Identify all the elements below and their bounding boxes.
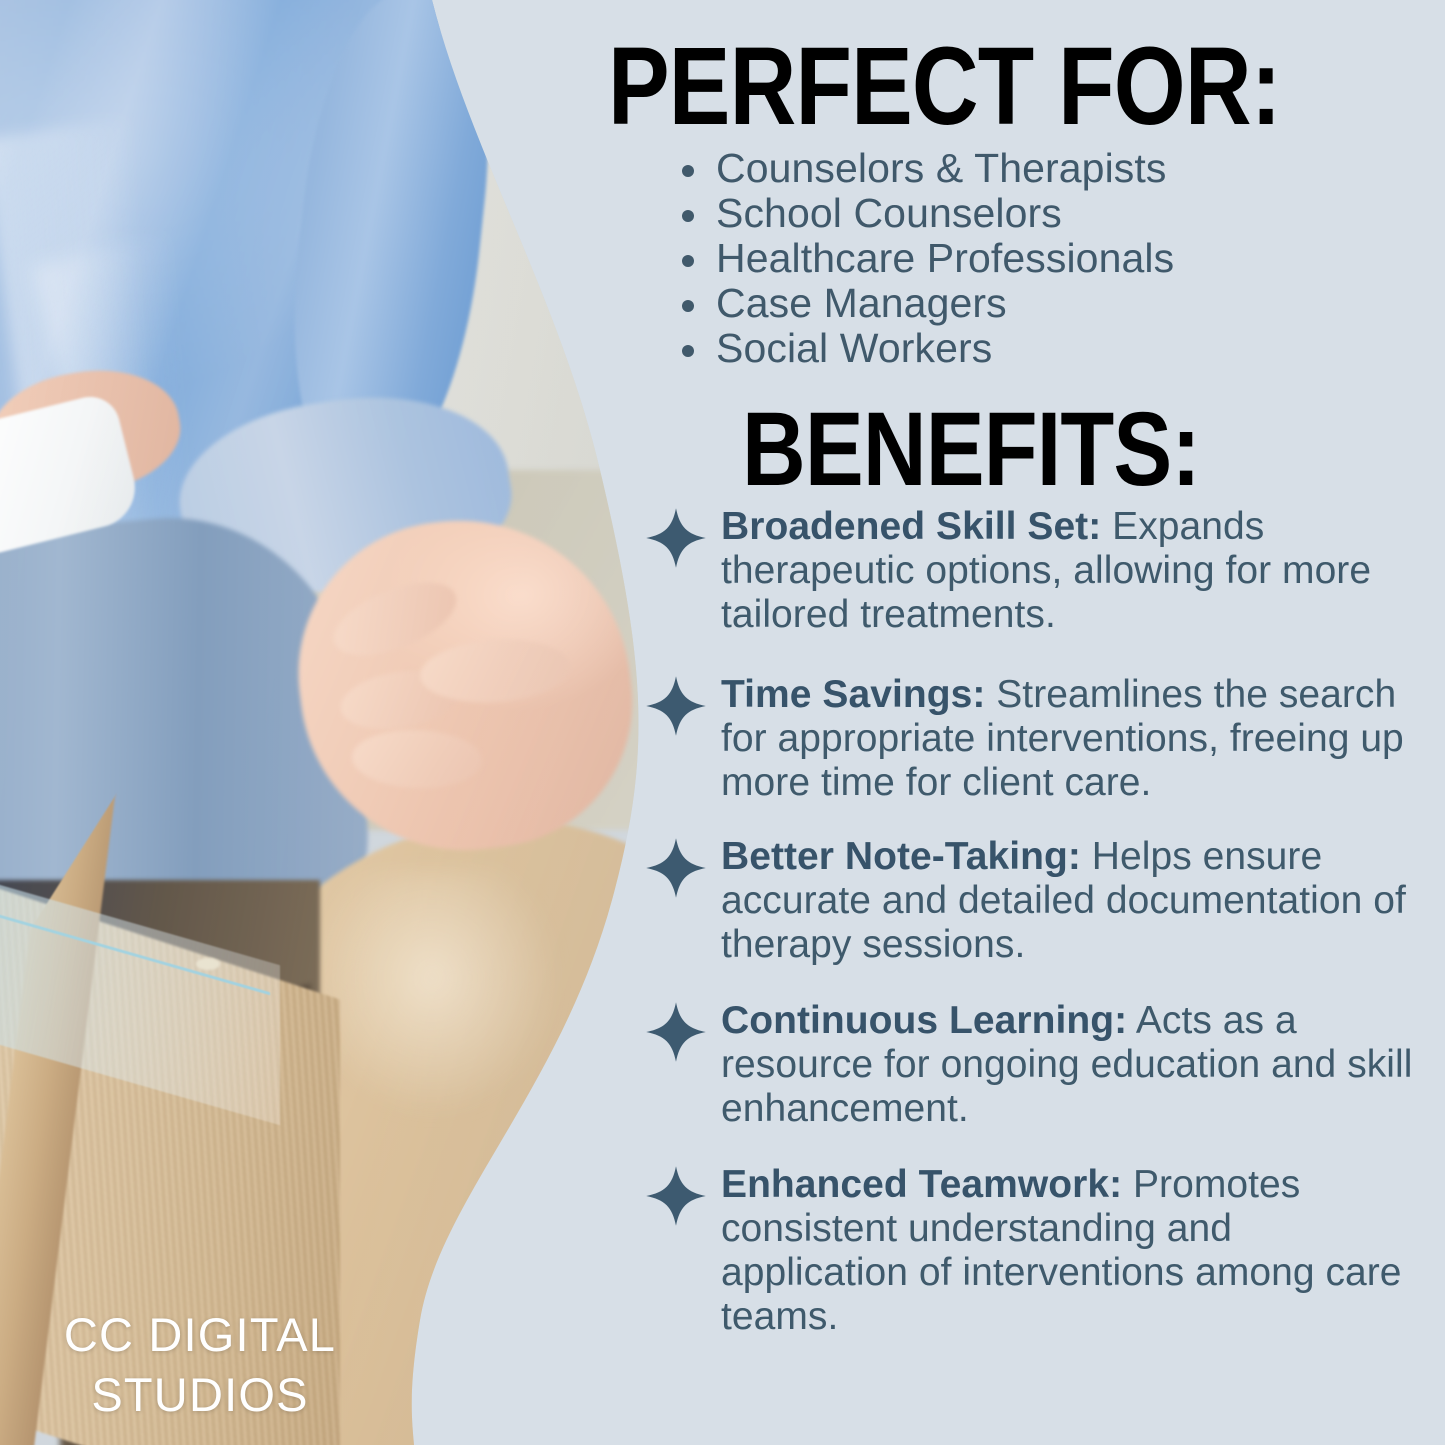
list-item-label: Counselors & Therapists — [716, 145, 1166, 191]
sparkle-icon — [645, 1001, 707, 1063]
poster-canvas: CC DIGITAL STUDIOS PERFECT FOR: Counselo… — [0, 0, 1445, 1445]
bullet-dot-icon — [682, 300, 694, 312]
content-panel: PERFECT FOR: Counselors & Therapists Sch… — [0, 0, 1445, 1445]
list-item-label: School Counselors — [716, 190, 1062, 236]
benefit-item: Better Note-Taking: Helps ensure accurat… — [645, 835, 1415, 967]
benefit-title: Broadened Skill Set: — [721, 505, 1101, 548]
bullet-dot-icon — [682, 165, 694, 177]
perfect-for-heading: PERFECT FOR: — [608, 26, 1281, 147]
perfect-for-list: Counselors & Therapists School Counselor… — [676, 146, 1416, 371]
benefit-title: Continuous Learning: — [721, 999, 1127, 1042]
benefit-item: Broadened Skill Set: Expands therapeutic… — [645, 505, 1415, 637]
list-item: Healthcare Professionals — [676, 236, 1416, 281]
benefit-item: Continuous Learning: Acts as a resource … — [645, 999, 1415, 1131]
list-item: Counselors & Therapists — [676, 146, 1416, 191]
sparkle-icon — [645, 507, 707, 569]
benefit-item: Time Savings: Streamlines the search for… — [645, 673, 1415, 805]
list-item-label: Healthcare Professionals — [716, 235, 1174, 281]
bullet-dot-icon — [682, 210, 694, 222]
list-item: Case Managers — [676, 281, 1416, 326]
list-item-label: Case Managers — [716, 280, 1007, 326]
benefit-item: Enhanced Teamwork: Promotes consistent u… — [645, 1163, 1415, 1339]
list-item-label: Social Workers — [716, 325, 992, 371]
benefits-list: Broadened Skill Set: Expands therapeutic… — [645, 505, 1415, 1339]
sparkle-icon — [645, 1165, 707, 1227]
sparkle-icon — [645, 675, 707, 737]
benefit-title: Better Note-Taking: — [721, 835, 1081, 878]
list-item: Social Workers — [676, 326, 1416, 371]
bullet-dot-icon — [682, 255, 694, 267]
bullet-dot-icon — [682, 345, 694, 357]
benefit-title: Time Savings: — [721, 673, 985, 716]
benefit-title: Enhanced Teamwork: — [721, 1163, 1122, 1206]
sparkle-icon — [645, 837, 707, 899]
benefits-heading: BENEFITS: — [742, 392, 1200, 508]
list-item: School Counselors — [676, 191, 1416, 236]
